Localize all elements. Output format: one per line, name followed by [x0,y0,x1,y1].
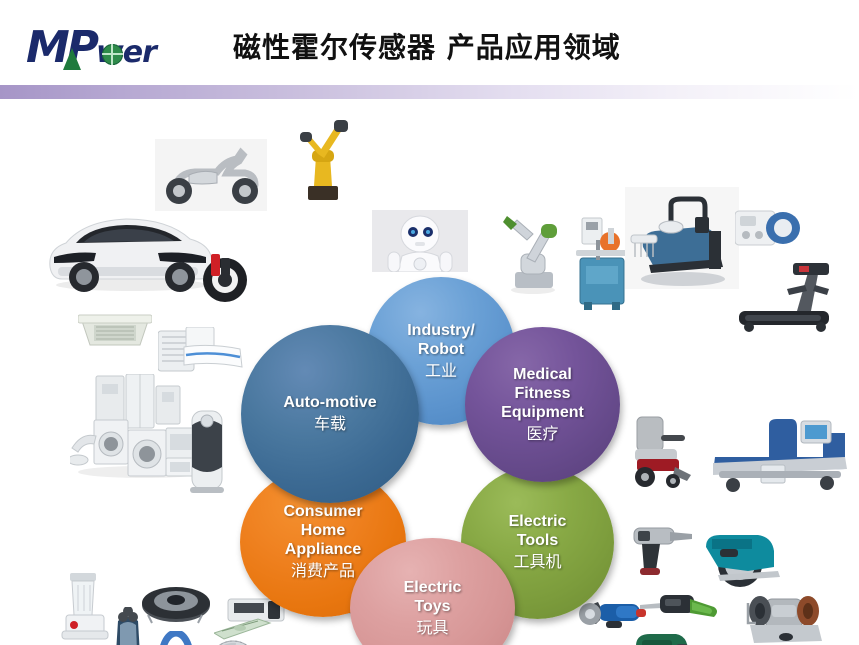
product-image-impact-wrench [630,524,696,576]
product-image-articulated-robot [497,210,567,295]
bubble-medical-en-line1: Medical [513,365,572,384]
product-image-medical-monitor [735,207,801,249]
bubble-industry-robot-en-line2: Robot [418,340,464,359]
product-image-bladeless-fan [156,631,196,645]
bubble-consumer-en-line1: Consumer [283,502,362,521]
bubble-electric-toys-cn: 玩具 [416,617,448,639]
green-triangle-icon [63,48,81,70]
bubble-medical-en-line2: Fitness [514,384,570,403]
bubble-industry-robot-en-line1: Industry/ [407,321,475,340]
bubble-electric-tools-en-line2: Tools [517,531,558,550]
product-image-pedestal-fan [200,639,266,645]
product-image-screwdriver [640,589,722,627]
bubble-electric-toys-en-line2: Toys [414,597,450,616]
header-gradient-divider [0,85,859,99]
product-image-air-purifier [186,407,228,495]
product-image-industrial-robot-arm [296,110,352,202]
bubble-medical-fitness-equipment[interactable]: Medical Fitness Equipment 医疗 [465,327,620,482]
bubble-medical-cn: 医疗 [526,423,558,445]
logo-wordmark-main: MP [26,22,96,73]
product-image-circular-saw [700,527,784,591]
product-image-blender [58,571,112,641]
product-image-bench-grinder [742,589,826,645]
product-image-hospital-bed [705,407,855,499]
slide-header: MPwer 磁性霍尔传感器 产品应用领域 [0,0,859,88]
product-image-electric-car [40,201,220,293]
bubble-consumer-cn: 消费产品 [291,560,355,582]
product-image-electric-unicycle [203,246,247,306]
bubble-consumer-en-line3: Appliance [285,540,361,559]
mpower-logo: MPwer [26,22,216,74]
bubble-auto-motive-en: Auto-motive [283,393,376,412]
green-globe-icon [102,44,123,65]
bubble-electric-tools-cn: 工具机 [513,551,561,573]
product-image-chainsaw [632,626,742,645]
content-stage: Auto-motive 车载 Industry/ Robot 工业 Medica… [0,99,859,645]
product-image-humanoid-robot [372,210,468,272]
bubble-consumer-en-line2: Home [301,521,345,540]
product-image-robot-vacuum [140,585,212,627]
bubble-medical-en-line3: Equipment [501,403,584,422]
page-title: 磁性霍尔传感器 产品应用领域 [233,26,621,66]
product-image-ceiling-ac [78,311,152,351]
product-image-treadmill [737,249,843,337]
bubble-industry-robot-cn: 工业 [425,360,457,382]
product-image-power-wheelchair [627,409,697,491]
bubble-electric-tools-en-line1: Electric [509,512,567,531]
bubble-electric-toys-en-line1: Electric [404,578,462,597]
logo-wordmark: MPwer [26,22,156,79]
bubble-auto-motive[interactable]: Auto-motive 车载 [241,325,419,503]
bubble-auto-motive-cn: 车载 [314,413,346,435]
slide-canvas: MPwer 磁性霍尔传感器 产品应用领域 [0,0,859,645]
product-image-dental-chair [625,187,739,289]
